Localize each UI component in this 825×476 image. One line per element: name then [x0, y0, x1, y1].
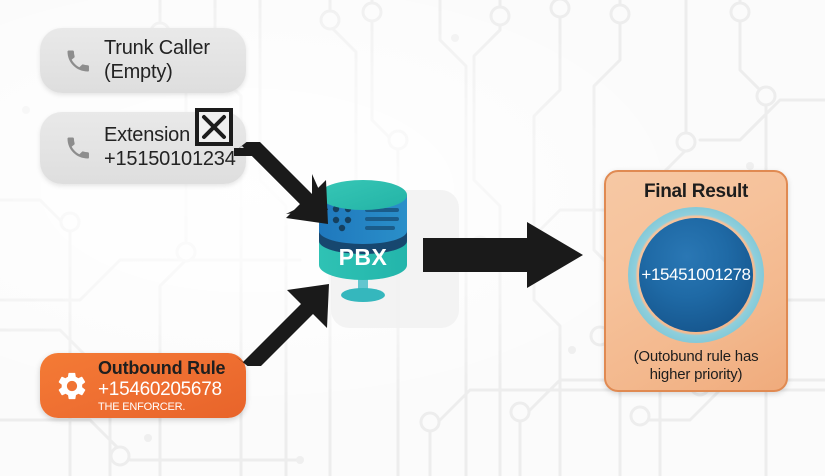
- trunk-caller-title: Trunk Caller: [104, 37, 210, 61]
- trunk-caller-text: Trunk Caller (Empty): [100, 37, 210, 84]
- final-result-circle: +15451001278: [628, 207, 764, 343]
- trunk-caller-value: (Empty): [104, 61, 210, 85]
- svg-text:PBX: PBX: [339, 244, 388, 270]
- final-result-panel: Final Result +15451001278 (Outobund rule…: [604, 170, 788, 392]
- gear-icon: [48, 369, 96, 403]
- diagram-canvas: Trunk Caller (Empty) Extension +15150101…: [0, 0, 825, 476]
- outbound-rule-card[interactable]: Outbound Rule +15460205678 THE ENFORCER.: [40, 353, 246, 418]
- final-result-caption-line2: higher priority): [650, 366, 743, 383]
- arrow-pbx-to-result: [423, 222, 583, 288]
- extension-value: +15150101234: [104, 148, 236, 172]
- trunk-caller-card[interactable]: Trunk Caller (Empty): [40, 28, 246, 93]
- final-result-title: Final Result: [644, 181, 748, 203]
- outbound-rule-text: Outbound Rule +15460205678 THE ENFORCER.: [96, 358, 225, 414]
- outbound-rule-title: Outbound Rule: [98, 358, 225, 378]
- final-result-caption: (Outobund rule has higher priority): [610, 348, 782, 383]
- final-result-caption-line1: (Outobund rule has: [634, 348, 759, 365]
- arrow-outbound-to-pbx: [233, 281, 333, 366]
- phone-icon: [56, 47, 100, 75]
- final-result-number: +15451001278: [641, 265, 750, 285]
- final-result-disc: +15451001278: [639, 218, 753, 332]
- outbound-rule-tagline: THE ENFORCER.: [98, 401, 225, 413]
- arrow-extension-to-pbx: [232, 142, 332, 227]
- outbound-rule-number: +15460205678: [98, 379, 225, 400]
- x-mark-icon: [195, 108, 233, 146]
- phone-icon: [56, 134, 100, 162]
